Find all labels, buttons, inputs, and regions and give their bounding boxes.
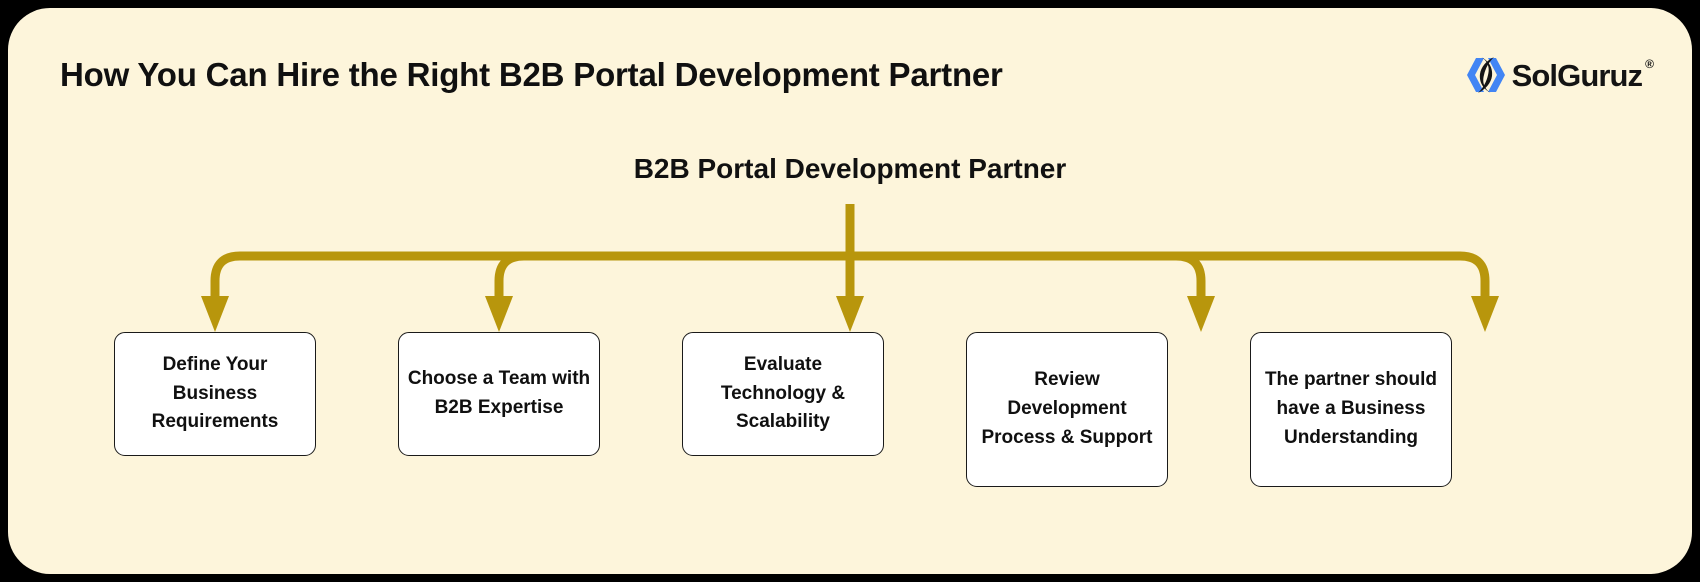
node-box-choose-team[interactable]: Choose a Team with B2B Expertise xyxy=(398,332,600,456)
node-label: Define Your Business Requirements xyxy=(123,351,307,438)
brand-wordmark: SolGuruz xyxy=(1512,60,1643,91)
node-box-define-requirements[interactable]: Define Your Business Requirements xyxy=(114,332,316,456)
root-node-label: B2B Portal Development Partner xyxy=(8,153,1692,185)
solguruz-logo: SolGuruz ® xyxy=(1464,55,1654,95)
node-box-review-process[interactable]: Review Development Process & Support xyxy=(966,332,1168,487)
solguruz-mark-icon xyxy=(1464,55,1508,95)
infographic-panel: How You Can Hire the Right B2B Portal De… xyxy=(8,8,1692,574)
node-label: Review Development Process & Support xyxy=(975,366,1159,453)
node-label: The partner should have a Business Under… xyxy=(1259,366,1443,453)
header: How You Can Hire the Right B2B Portal De… xyxy=(8,8,1692,118)
node-label: Evaluate Technology & Scalability xyxy=(691,351,875,438)
node-box-business-understanding[interactable]: The partner should have a Business Under… xyxy=(1250,332,1452,487)
page-title: How You Can Hire the Right B2B Portal De… xyxy=(60,56,1003,94)
registered-trademark-icon: ® xyxy=(1645,57,1654,71)
node-box-evaluate-technology[interactable]: Evaluate Technology & Scalability xyxy=(682,332,884,456)
node-label: Choose a Team with B2B Expertise xyxy=(407,365,591,423)
node-list: Define Your Business Requirements Choose… xyxy=(8,326,1692,526)
